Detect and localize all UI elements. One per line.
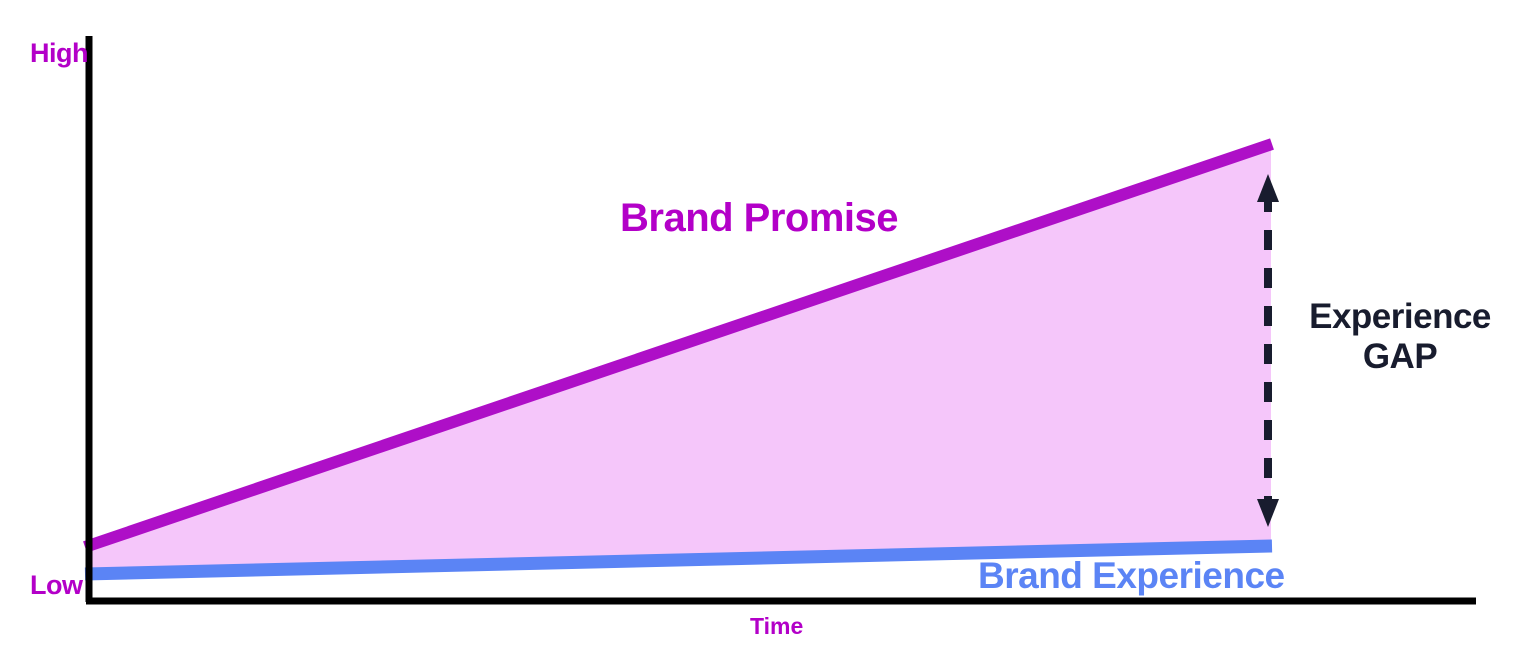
- y-axis-low-label: Low: [30, 572, 83, 599]
- series-label-brand-experience: Brand Experience: [978, 557, 1285, 594]
- y-axis-high-label: High: [30, 40, 88, 67]
- chart-canvas: High Low Time Brand Promise Brand Experi…: [0, 0, 1532, 670]
- series-label-brand-promise: Brand Promise: [620, 198, 898, 238]
- experience-gap-line-2: GAP: [1300, 337, 1500, 377]
- experience-gap-annotation: Experience GAP: [1300, 297, 1500, 378]
- experience-gap-line-1: Experience: [1300, 297, 1500, 337]
- x-axis-time-label: Time: [750, 615, 803, 638]
